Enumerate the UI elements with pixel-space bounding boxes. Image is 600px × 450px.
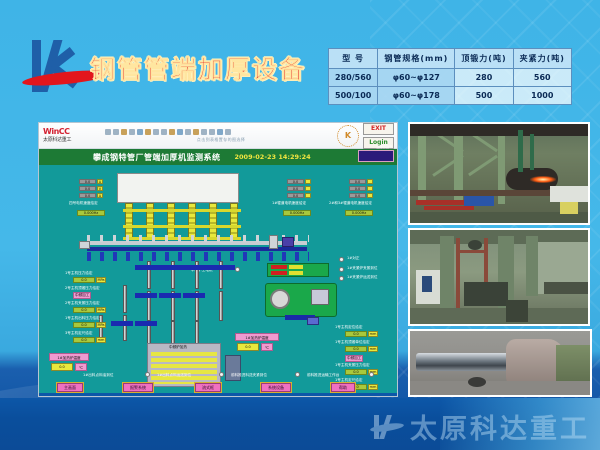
right-press-label: 1号主机夹紧压力给定 (335, 363, 370, 368)
press-unit: MPa (96, 307, 106, 313)
press-unit: MPa (96, 322, 106, 328)
right2-readout-2: 0.0 (349, 186, 366, 191)
cell-model: 280/560 (329, 69, 378, 87)
temp-panel-value: 0.0 (237, 343, 259, 351)
redo-icon[interactable] (169, 129, 175, 135)
new-icon[interactable] (105, 129, 111, 135)
cell-upset: 280 (455, 69, 513, 87)
right-press-value: 0.0 (345, 331, 367, 337)
right2-unit-1 (367, 179, 373, 184)
bottom-indicator-lamp (219, 372, 224, 377)
right-press-unit: mm (368, 331, 378, 337)
right-press-label: 1号主机顶锻单位给定 (335, 340, 370, 345)
right1-unit-2 (305, 186, 311, 191)
col-header-size: 钢管规格(mm) (378, 49, 455, 69)
gauge-icon (337, 125, 359, 147)
hmi-screenshot: WinCC 太原科达重工 点击到表格置存的图选择 EXIT Login 攀成钢特… (38, 122, 398, 397)
right-motor-housing (269, 235, 278, 249)
footer-button-system[interactable]: 系统设备 (261, 383, 291, 392)
right2-speed-readout: 0.000Hz (345, 210, 373, 216)
temp-panel-unit: ℃ (261, 343, 273, 351)
bottom-indicator-label: 前料推进运输工作台 (307, 373, 339, 378)
machine-press-photo (408, 228, 590, 326)
heat-panel-rows (151, 352, 217, 384)
bottom-indicator-lamp (369, 372, 374, 377)
clamp (135, 293, 157, 298)
press-mode: 中频加工 (73, 292, 91, 299)
settings-icon[interactable] (217, 129, 223, 135)
table-row: 500/100 φ60~φ178 500 1000 (329, 87, 572, 105)
press-label: 2号主机夹紧压力给定 (65, 301, 100, 306)
print-icon[interactable] (129, 129, 135, 135)
temp-value: 0.0 (51, 363, 73, 371)
press-unit: MPa (96, 277, 106, 283)
hmi-toolbar: WinCC 太原科达重工 点击到表格置存的图选择 EXIT Login (39, 123, 397, 149)
help-icon[interactable] (225, 129, 231, 135)
open-icon[interactable] (113, 129, 119, 135)
right-press-mode: 中频加工 (345, 355, 363, 362)
clamp (159, 293, 181, 298)
left-readout-2: 0.0 (79, 186, 96, 191)
factory-line-photo (408, 122, 590, 225)
bottom-indicator-label: 1#出料点料运送到位 (157, 373, 191, 378)
footer-button-trend[interactable]: 流式框 (195, 383, 221, 392)
watermark-text: 太原科达重工 (410, 407, 590, 446)
left-unit-3: A (97, 193, 103, 198)
cell-upset: 500 (455, 87, 513, 105)
clamp (111, 321, 133, 326)
current-user-field[interactable] (358, 150, 394, 162)
press-label: 2号主机顶锻压力给定 (65, 286, 100, 291)
col-header-clamp: 夹紧力(吨) (513, 49, 571, 69)
right1-readout-3: 0.0 (287, 193, 304, 198)
right-press-label: 1号主机定位给定 (335, 325, 362, 330)
toolbar-hint: 点击到表格置存的图选择 (105, 137, 337, 143)
indicator-label: 1#对正 (347, 256, 360, 261)
right1-unit-1 (305, 179, 311, 184)
footer-button-alarm[interactable]: 报警系统 (123, 383, 153, 392)
cell-size: φ60~φ127 (378, 69, 455, 87)
bottom-indicator-label: 前料推进料送夹紧到位 (231, 373, 267, 378)
temp-panel-label: 1#加热炉温度 (235, 333, 279, 341)
cylinder (123, 285, 127, 313)
right2-unit-2 (367, 186, 373, 191)
indicator-label: 1#夹紧炉夹紧到位 (347, 266, 377, 271)
cell-size: φ60~φ178 (378, 87, 455, 105)
cut-icon[interactable] (137, 129, 143, 135)
pipe-closeup-photo (408, 329, 592, 397)
copy-icon[interactable] (145, 129, 151, 135)
watermark-logo-icon (370, 412, 404, 442)
right2-readout-3: 0.0 (349, 193, 366, 198)
press-unit: mm (96, 337, 106, 343)
valve-yellow (289, 271, 303, 275)
spec-table: 型 号 钢管规格(mm) 顶锻力(吨) 夹紧力(吨) 280/560 φ60~φ… (328, 48, 572, 105)
footer-button-help[interactable]: 帮助 (331, 383, 355, 392)
cell-model: 500/100 (329, 87, 378, 105)
right-press-value: 0.0 (345, 346, 367, 352)
bottom-indicator-label: 1#出料点料油到位 (83, 373, 113, 378)
right1-readout-1: 0.0 (287, 179, 304, 184)
press-value: 0.0 (73, 277, 95, 283)
toolbar-icons-area: 点击到表格置存的图选择 (99, 129, 337, 143)
save-icon[interactable] (121, 129, 127, 135)
toolbar-icon-strip[interactable] (105, 129, 337, 135)
temp-unit: ℃ (75, 363, 87, 371)
actuator (307, 317, 319, 325)
footer-button-main[interactable]: 主画面 (57, 383, 83, 392)
valve-red (271, 271, 287, 275)
cylinder (123, 315, 127, 341)
table-header-row: 型 号 钢管规格(mm) 顶锻力(吨) 夹紧力(吨) (329, 49, 572, 69)
wincc-logo: WinCC 太原科达重工 (39, 128, 99, 143)
bottom-indicator-lamp (145, 372, 150, 377)
roller-row (87, 252, 309, 261)
right1-unit-3 (305, 193, 311, 198)
valve-yellow (289, 265, 303, 269)
hmi-status-bar (39, 393, 397, 397)
bottom-indicator-lamp (295, 372, 300, 377)
hmi-title-bar: 攀成钢特管厂管端加厚机监测系统 2009-02-23 14:29:24 当前用户 (39, 149, 397, 165)
group-icon[interactable] (209, 129, 215, 135)
left-readout-3: 0.0 (79, 193, 96, 198)
right1-group-label: 1#辊道电机速度给定 (272, 201, 306, 206)
right-press-value: 0.0 (345, 369, 367, 375)
valve-red (271, 265, 287, 269)
rail (123, 209, 241, 212)
drive-motor (79, 241, 90, 249)
left-speed-readout: 0.000Hz (77, 210, 105, 216)
col-header-upset: 顶锻力(吨) (455, 49, 513, 69)
page-title: 钢管管端加厚设备 (90, 50, 306, 86)
left-unit-2: V (97, 186, 103, 191)
hmi-mimic-diagram[interactable]: 0.0 A 0.0 V 0.0 A 四号电机速度给定 0.000Hz 0.0 0… (39, 165, 397, 397)
heat-panel-title: 中频炉加热 (169, 345, 187, 350)
indicator-lamp (339, 276, 344, 281)
watermark: 太原科达重工 (370, 407, 590, 446)
furnace-body (117, 173, 239, 203)
right-motor (282, 237, 294, 247)
grid-icon[interactable] (185, 129, 191, 135)
left-unit-1: A (97, 179, 103, 184)
right2-unit-3 (367, 193, 373, 198)
temp-label: 1#加热炉温度 (49, 353, 89, 361)
clamp (135, 321, 157, 326)
left-readout-1: 0.0 (79, 179, 96, 184)
right2-readout-1: 0.0 (349, 179, 366, 184)
indicator-label: 1#夹紧炉运送到位 (347, 275, 377, 280)
mid-furnace-indicator (235, 267, 240, 272)
clamp (183, 293, 205, 298)
press-label: 3号主机定尺给定 (65, 331, 92, 336)
align-icon[interactable] (201, 129, 207, 135)
col-header-model: 型 号 (329, 49, 378, 69)
indicator-lamp (339, 257, 344, 262)
right1-speed-readout: 0.000Hz (283, 210, 311, 216)
rail (123, 225, 241, 228)
press-value: 0.0 (73, 307, 95, 313)
undo-icon[interactable] (161, 129, 167, 135)
press-value: 0.0 (73, 337, 95, 343)
hmi-timestamp: 2009-02-23 14:29:24 (235, 153, 311, 161)
right-press-unit: mm (368, 384, 378, 390)
cylinder (219, 291, 223, 321)
press-label: 1号主机压力给定 (65, 271, 92, 276)
press-label: 1号主机出料压力给定 (65, 316, 100, 321)
right-press-unit: mm (368, 346, 378, 352)
layer-icon[interactable] (193, 129, 199, 135)
paste-icon[interactable] (153, 129, 159, 135)
right2-group-label: 2#和3#辊道电机速度给定 (329, 201, 372, 206)
exit-button[interactable]: EXIT (363, 123, 394, 135)
cell-clamp: 1000 (513, 87, 571, 105)
left-readout-group-label: 四号电机速度给定 (69, 201, 98, 206)
right1-readout-2: 0.0 (287, 186, 304, 191)
control-unit (311, 289, 329, 305)
clamp (207, 265, 235, 270)
table-row: 280/560 φ60~φ127 280 560 (329, 69, 572, 87)
zoom-icon[interactable] (177, 129, 183, 135)
indicator-lamp (339, 267, 344, 272)
press-value: 0.0 (73, 322, 95, 328)
bearing-icon (270, 289, 290, 309)
hmi-system-title: 攀成钢特管厂管端加厚机监测系统 (93, 152, 221, 163)
cell-clamp: 560 (513, 69, 571, 87)
